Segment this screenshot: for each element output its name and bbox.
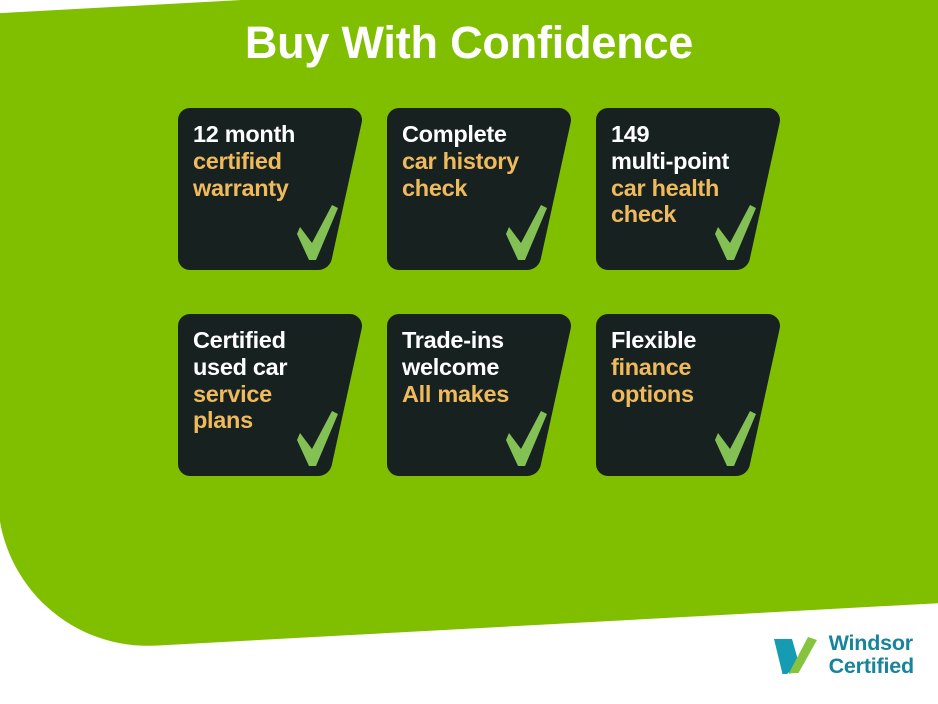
check-icon bbox=[712, 410, 758, 468]
benefit-card-multi-point-health-check[interactable]: 149 multi-point car health check bbox=[596, 108, 780, 270]
card-line-white: used car bbox=[193, 354, 343, 381]
benefit-card-car-history-check[interactable]: Complete car history check bbox=[387, 108, 571, 270]
card-line-accent: options bbox=[611, 381, 761, 408]
card-line-white: welcome bbox=[402, 354, 552, 381]
card-line-accent: All makes bbox=[402, 381, 552, 408]
card-line-accent: check bbox=[402, 175, 552, 202]
card-line-accent: warranty bbox=[193, 175, 343, 202]
card-row-1: 12 month certified warranty Complete car… bbox=[178, 108, 778, 270]
benefit-card-trade-ins[interactable]: Trade-ins welcome All makes bbox=[387, 314, 571, 476]
poster-canvas: Buy With Confidence 12 month certified w… bbox=[0, 0, 938, 704]
benefit-card-grid: 12 month certified warranty Complete car… bbox=[178, 108, 778, 520]
brand-logo[interactable]: Windsor Certified bbox=[772, 632, 914, 678]
card-line-white: Complete bbox=[402, 121, 552, 148]
card-line-accent: car health bbox=[611, 175, 761, 202]
benefit-card-service-plans[interactable]: Certified used car service plans bbox=[178, 314, 362, 476]
card-line-accent: certified bbox=[193, 148, 343, 175]
check-icon bbox=[294, 204, 340, 262]
card-line-white: Trade-ins bbox=[402, 327, 552, 354]
card-line-accent: service bbox=[193, 381, 343, 408]
benefit-card-flexible-finance[interactable]: Flexible finance options bbox=[596, 314, 780, 476]
card-text: 12 month certified warranty bbox=[193, 121, 343, 201]
card-line-white: 12 month bbox=[193, 121, 343, 148]
windsor-w-icon bbox=[772, 633, 820, 677]
card-line-accent: finance bbox=[611, 354, 761, 381]
card-text: Flexible finance options bbox=[611, 327, 761, 407]
logo-line-certified: Certified bbox=[829, 655, 914, 678]
card-text: Trade-ins welcome All makes bbox=[402, 327, 552, 407]
card-row-2: Certified used car service plans Trade-i… bbox=[178, 314, 778, 476]
page-title: Buy With Confidence bbox=[0, 18, 938, 68]
card-line-white: Flexible bbox=[611, 327, 761, 354]
check-icon bbox=[294, 410, 340, 468]
logo-line-windsor: Windsor bbox=[829, 632, 914, 655]
card-line-accent: car history bbox=[402, 148, 552, 175]
card-line-white: Certified bbox=[193, 327, 343, 354]
card-text: Complete car history check bbox=[402, 121, 552, 201]
card-line-white: multi-point bbox=[611, 148, 761, 175]
check-icon bbox=[503, 410, 549, 468]
card-line-white: 149 bbox=[611, 121, 761, 148]
check-icon bbox=[503, 204, 549, 262]
benefit-card-certified-warranty[interactable]: 12 month certified warranty bbox=[178, 108, 362, 270]
logo-wordmark: Windsor Certified bbox=[829, 632, 914, 678]
check-icon bbox=[712, 204, 758, 262]
